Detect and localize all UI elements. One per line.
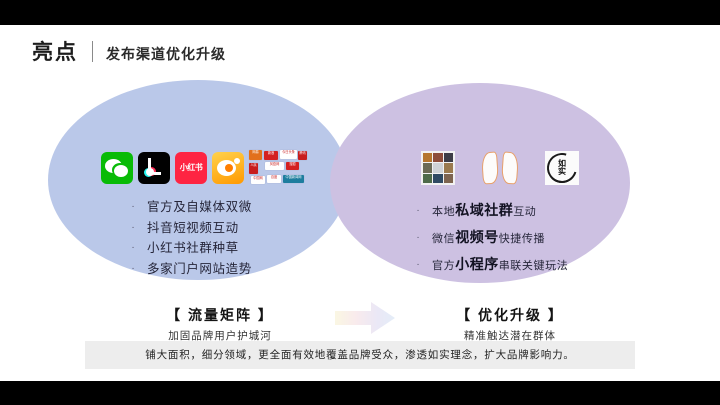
bullet-emphasis: 私域社群 — [455, 202, 513, 218]
list-item: · 多家门户网站造势 — [128, 263, 252, 276]
avatar-cell — [423, 163, 432, 172]
footer-banner-text: 铺大面积，细分领域，更全面有效地覆盖品牌受众，渗透如实理念，扩大品牌影响力。 — [145, 350, 574, 361]
right-caption-title: 【 优化升级 】 — [400, 307, 620, 324]
bullet-marker: · — [413, 206, 423, 216]
list-item: · 小红书社群种草 — [128, 242, 252, 255]
weibo-dot — [234, 158, 240, 164]
letterbox-top — [0, 0, 720, 25]
avatar-cell — [423, 174, 432, 183]
bullet-text: 本地私域社群互动 — [432, 203, 536, 218]
title-main: 亮点 — [32, 42, 78, 63]
left-caption-title: 【 流量矩阵 】 — [110, 307, 330, 324]
seal-char-2: 实 — [558, 167, 566, 176]
bullet-text: 官方及自媒体双微 — [147, 201, 252, 214]
bullet-text: 官方小程序串联关键玩法 — [432, 257, 568, 272]
bullet-prefix: 官方 — [432, 260, 455, 272]
bullet-marker: · — [413, 260, 423, 270]
right-channel-icons: 如 实 — [421, 151, 579, 185]
weibo-pupil — [225, 164, 233, 172]
left-channel-icons: 小红书 网易 新浪 今日头条 腾讯 凤凰网 搜狐 人民 中国网 百度 中国新闻网 — [101, 150, 307, 186]
bullet-marker: · — [128, 264, 138, 274]
avatar-cell — [444, 174, 453, 183]
title-divider — [92, 41, 93, 62]
avatar-cell — [433, 153, 442, 162]
xiaohongshu-icon: 小红书 — [175, 152, 207, 184]
media-logo: 凤凰网 — [265, 162, 284, 170]
bullet-marker: · — [128, 243, 138, 253]
right-bullet-list: · 本地私域社群互动 · 微信视频号快捷传播 · 官方小程序串联关键玩法 — [413, 203, 568, 284]
transition-arrow — [333, 301, 397, 335]
avatar-cell — [444, 163, 453, 172]
media-logo: 中国新闻网 — [283, 175, 304, 183]
slide-canvas: 亮点 发布渠道优化升级 小红书 — [0, 25, 720, 381]
bullet-emphasis: 视频号 — [455, 229, 499, 245]
bullet-suffix: 快捷传播 — [499, 233, 545, 245]
wechat-bubble-small — [114, 165, 128, 177]
avatar-cell — [444, 153, 453, 162]
media-logo: 人民 — [249, 163, 258, 174]
media-logo: 新浪 — [264, 151, 278, 160]
channels-right-wing — [501, 151, 519, 184]
list-item: · 本地私域社群互动 — [413, 203, 568, 218]
footer-banner: 铺大面积，细分领域，更全面有效地覆盖品牌受众，渗透如实理念，扩大品牌影响力。 — [85, 341, 635, 369]
page-title: 亮点 发布渠道优化升级 — [32, 38, 226, 63]
news-media-cluster-icon: 网易 新浪 今日头条 腾讯 凤凰网 搜狐 人民 中国网 百度 中国新闻网 — [249, 150, 307, 186]
douyin-note-glyph — [148, 158, 161, 175]
list-item: · 官方及自媒体双微 — [128, 201, 252, 214]
seal-text: 如 实 — [558, 160, 566, 176]
media-logo: 中国网 — [251, 176, 265, 184]
bullet-text: 抖音短视频互动 — [147, 222, 239, 235]
list-item: · 官方小程序串联关键玩法 — [413, 257, 568, 272]
bullet-suffix: 互动 — [513, 206, 536, 218]
bullet-marker: · — [413, 233, 423, 243]
media-logo: 腾讯 — [298, 151, 307, 160]
channels-left-wing — [481, 151, 499, 184]
rushi-seal-icon: 如 实 — [545, 151, 579, 185]
letterbox-bottom — [0, 381, 720, 405]
bullet-suffix: 串联关键玩法 — [499, 260, 569, 272]
media-logo: 网易 — [249, 150, 262, 160]
avatar-cell — [423, 153, 432, 162]
list-item: · 抖音短视频互动 — [128, 222, 252, 235]
media-logo: 今日头条 — [280, 150, 297, 159]
bullet-text: 多家门户网站造势 — [147, 263, 252, 276]
left-bullet-list: · 官方及自媒体双微 · 抖音短视频互动 · 小红书社群种草 · 多家门户网站造… — [128, 201, 252, 283]
bullet-marker: · — [128, 223, 138, 233]
title-subtitle: 发布渠道优化升级 — [106, 47, 226, 61]
community-grid-icon — [421, 151, 455, 185]
wechat-channels-icon — [481, 151, 519, 185]
bullet-prefix: 微信 — [432, 233, 455, 245]
left-caption: 【 流量矩阵 】 加固品牌用户护城河 — [110, 307, 330, 342]
bullet-prefix: 本地 — [432, 206, 455, 218]
slide-root: 亮点 发布渠道优化升级 小红书 — [0, 0, 720, 405]
avatar-cell — [433, 174, 442, 183]
media-logo: 百度 — [267, 175, 281, 183]
weibo-icon — [212, 152, 244, 184]
avatar-cell — [433, 163, 442, 172]
douyin-icon — [138, 152, 170, 184]
bullet-emphasis: 小程序 — [455, 256, 499, 272]
xiaohongshu-label: 小红书 — [180, 164, 203, 172]
list-item: · 微信视频号快捷传播 — [413, 230, 568, 245]
media-logo: 搜狐 — [286, 162, 299, 170]
right-caption: 【 优化升级 】 精准触达潜在群体 — [400, 307, 620, 342]
wechat-icon — [101, 152, 133, 184]
bullet-text: 微信视频号快捷传播 — [432, 230, 545, 245]
bullet-marker: · — [128, 202, 138, 212]
bullet-text: 小红书社群种草 — [147, 242, 239, 255]
